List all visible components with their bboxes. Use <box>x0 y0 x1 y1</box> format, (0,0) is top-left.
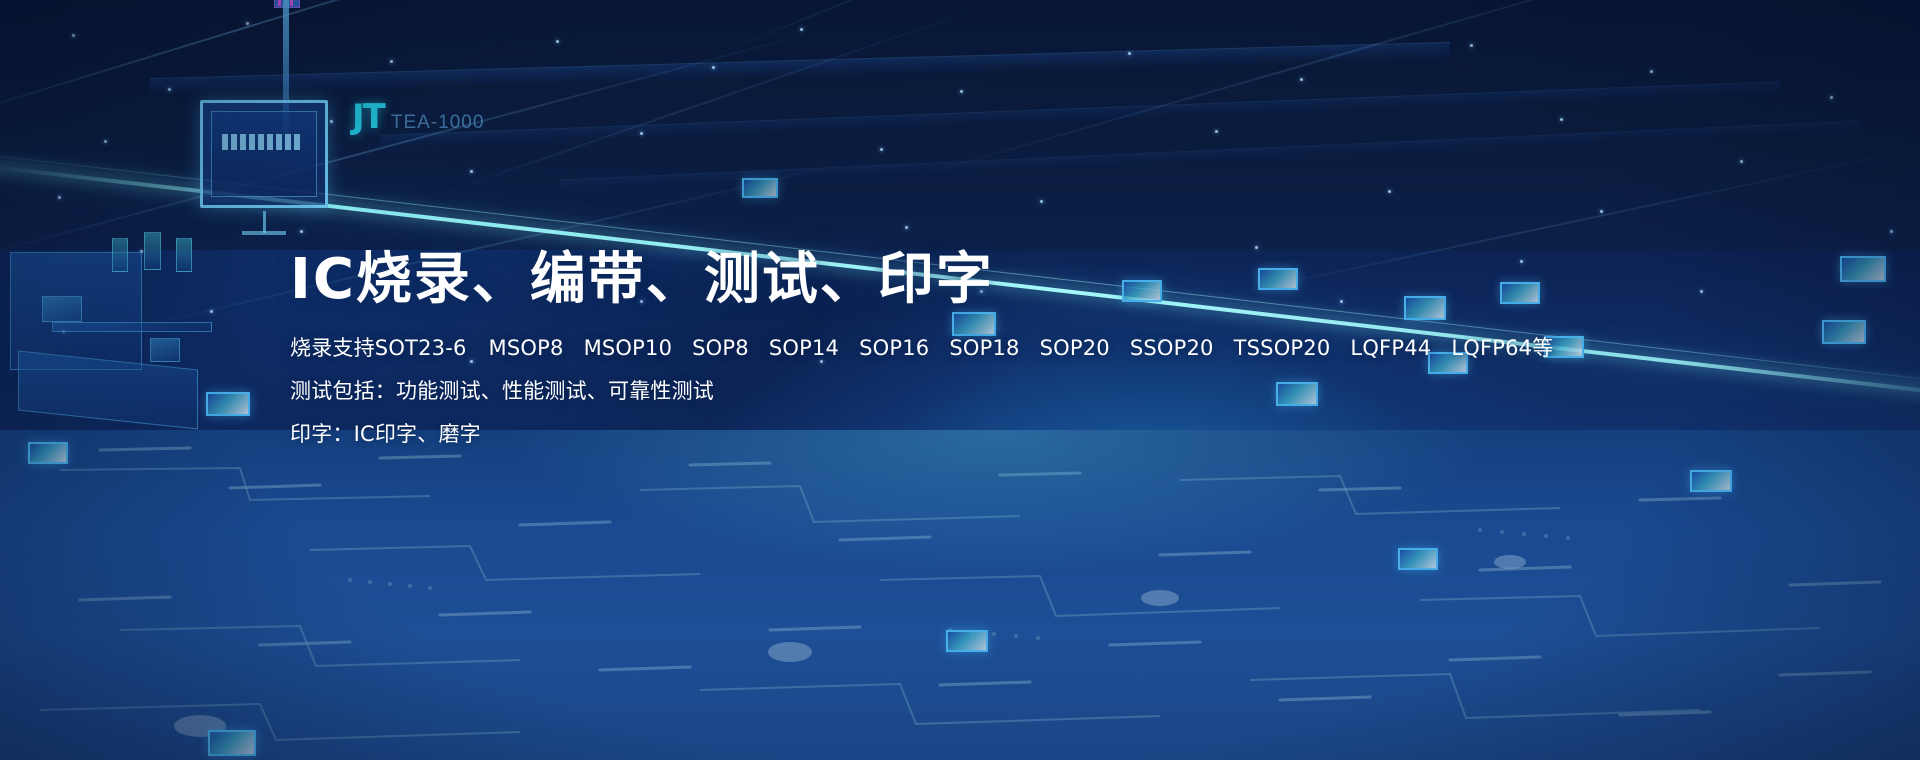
ic-chip <box>208 730 256 756</box>
ic-chip <box>206 392 250 416</box>
ic-chip <box>1690 470 1732 492</box>
subtitle-group: 烧录支持SOT23-6MSOP8MSOP10SOP8SOP14SOP16SOP1… <box>290 338 1590 445</box>
ic-chip <box>1840 256 1886 282</box>
floor-center-glow <box>0 430 1920 760</box>
machine-rail <box>52 322 212 332</box>
hero-banner: JT TEA-1000 IC烧录、编带、测试、印字 烧录支持SOT23-6MSO… <box>0 0 1920 760</box>
machine-panel-left <box>42 296 82 322</box>
package-lqfp64: LQFP64等 <box>1451 336 1553 360</box>
machine-cylinder-1 <box>112 238 128 272</box>
page-title: IC烧录、编带、测试、印字 <box>290 248 1590 312</box>
package-sop16: SOP16 <box>859 336 929 360</box>
machine-cylinder-2 <box>144 232 161 270</box>
ic-chip <box>946 630 988 652</box>
package-sop8: SOP8 <box>692 336 749 360</box>
ic-chip <box>1822 320 1866 344</box>
ic-chip <box>28 442 68 464</box>
logo-model: TEA-1000 <box>391 113 485 132</box>
monitor-stand <box>263 211 266 233</box>
testing-line: 测试包括：功能测试、性能测试、可靠性测试 <box>290 381 1590 402</box>
package-sop18: SOP18 <box>949 336 1019 360</box>
package-tssop20: TSSOP20 <box>1234 336 1331 360</box>
package-lqfp44: LQFP44 <box>1350 336 1431 360</box>
ic-chip <box>1398 548 1438 570</box>
package-ssop20: SSOP20 <box>1130 336 1214 360</box>
brand-logo: JT TEA-1000 <box>352 100 484 134</box>
package-msop10: MSOP10 <box>584 336 673 360</box>
monitor-screen <box>211 111 317 197</box>
package-msop8: MSOP8 <box>489 336 564 360</box>
package-sop14: SOP14 <box>769 336 839 360</box>
monitor-chip-row <box>222 134 300 150</box>
packages-line: 烧录支持SOT23-6MSOP8MSOP10SOP8SOP14SOP16SOP1… <box>290 338 1590 359</box>
monitor-display <box>200 100 328 208</box>
package-sop20: SOP20 <box>1040 336 1110 360</box>
printing-line: 印字：IC印字、磨字 <box>290 424 1590 445</box>
ic-chip <box>742 178 778 198</box>
logo-mark: JT <box>352 100 384 134</box>
hero-content: IC烧录、编带、测试、印字 烧录支持SOT23-6MSOP8MSOP10SOP8… <box>290 248 1590 467</box>
machine-cylinder-3 <box>176 238 192 272</box>
burn-support-label: 烧录支持SOT23-6 <box>290 336 467 360</box>
machine-block <box>150 338 180 362</box>
monitor-base <box>242 231 286 235</box>
